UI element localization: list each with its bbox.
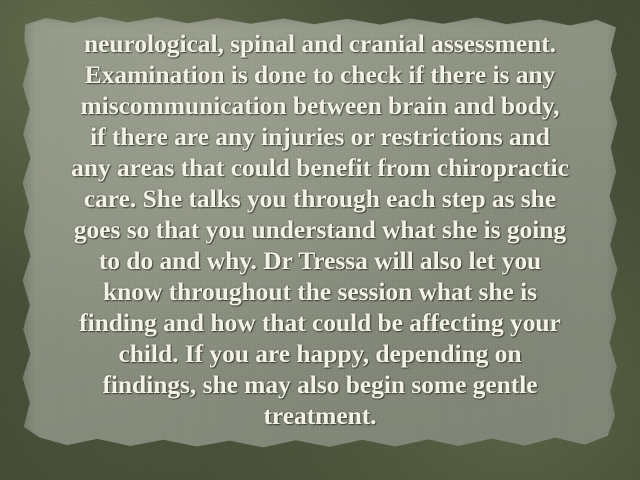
text-line: know throughout the session what she is [27, 276, 613, 307]
text-line: to do and why. Dr Tressa will also let y… [27, 245, 613, 276]
text-line: findings, she may also begin some gentle [27, 369, 613, 400]
torn-paper-panel: neurological, spinal and cranial assessm… [19, 14, 621, 458]
text-line: miscommunication between brain and body, [27, 90, 613, 121]
text-line: any areas that could benefit from chirop… [27, 152, 613, 183]
slide-canvas: neurological, spinal and cranial assessm… [0, 0, 640, 480]
text-line: if there are any injuries or restriction… [27, 121, 613, 152]
body-paragraph: neurological, spinal and cranial assessm… [19, 28, 621, 431]
text-line: care. She talks you through each step as… [27, 183, 613, 214]
text-line: goes so that you understand what she is … [27, 214, 613, 245]
text-line: child. If you are happy, depending on [27, 338, 613, 369]
text-line: Examination is done to check if there is… [27, 59, 613, 90]
text-line: neurological, spinal and cranial assessm… [27, 28, 613, 59]
text-line: finding and how that could be affecting … [27, 307, 613, 338]
text-line: treatment. [27, 400, 613, 431]
